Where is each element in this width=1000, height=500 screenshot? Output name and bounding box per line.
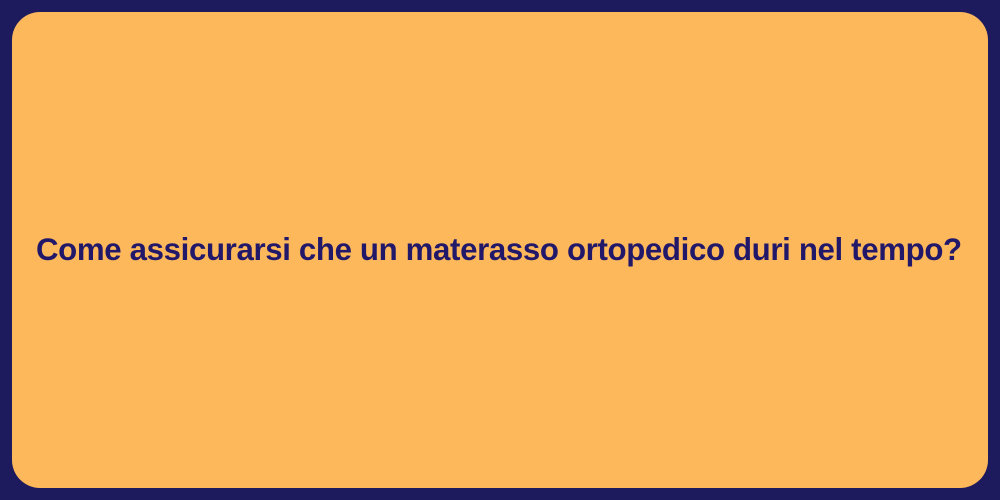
- page-canvas: Come assicurarsi che un materasso ortope…: [0, 0, 1000, 500]
- page-title: Come assicurarsi che un materasso ortope…: [36, 230, 962, 270]
- content-card: Come assicurarsi che un materasso ortope…: [12, 12, 988, 488]
